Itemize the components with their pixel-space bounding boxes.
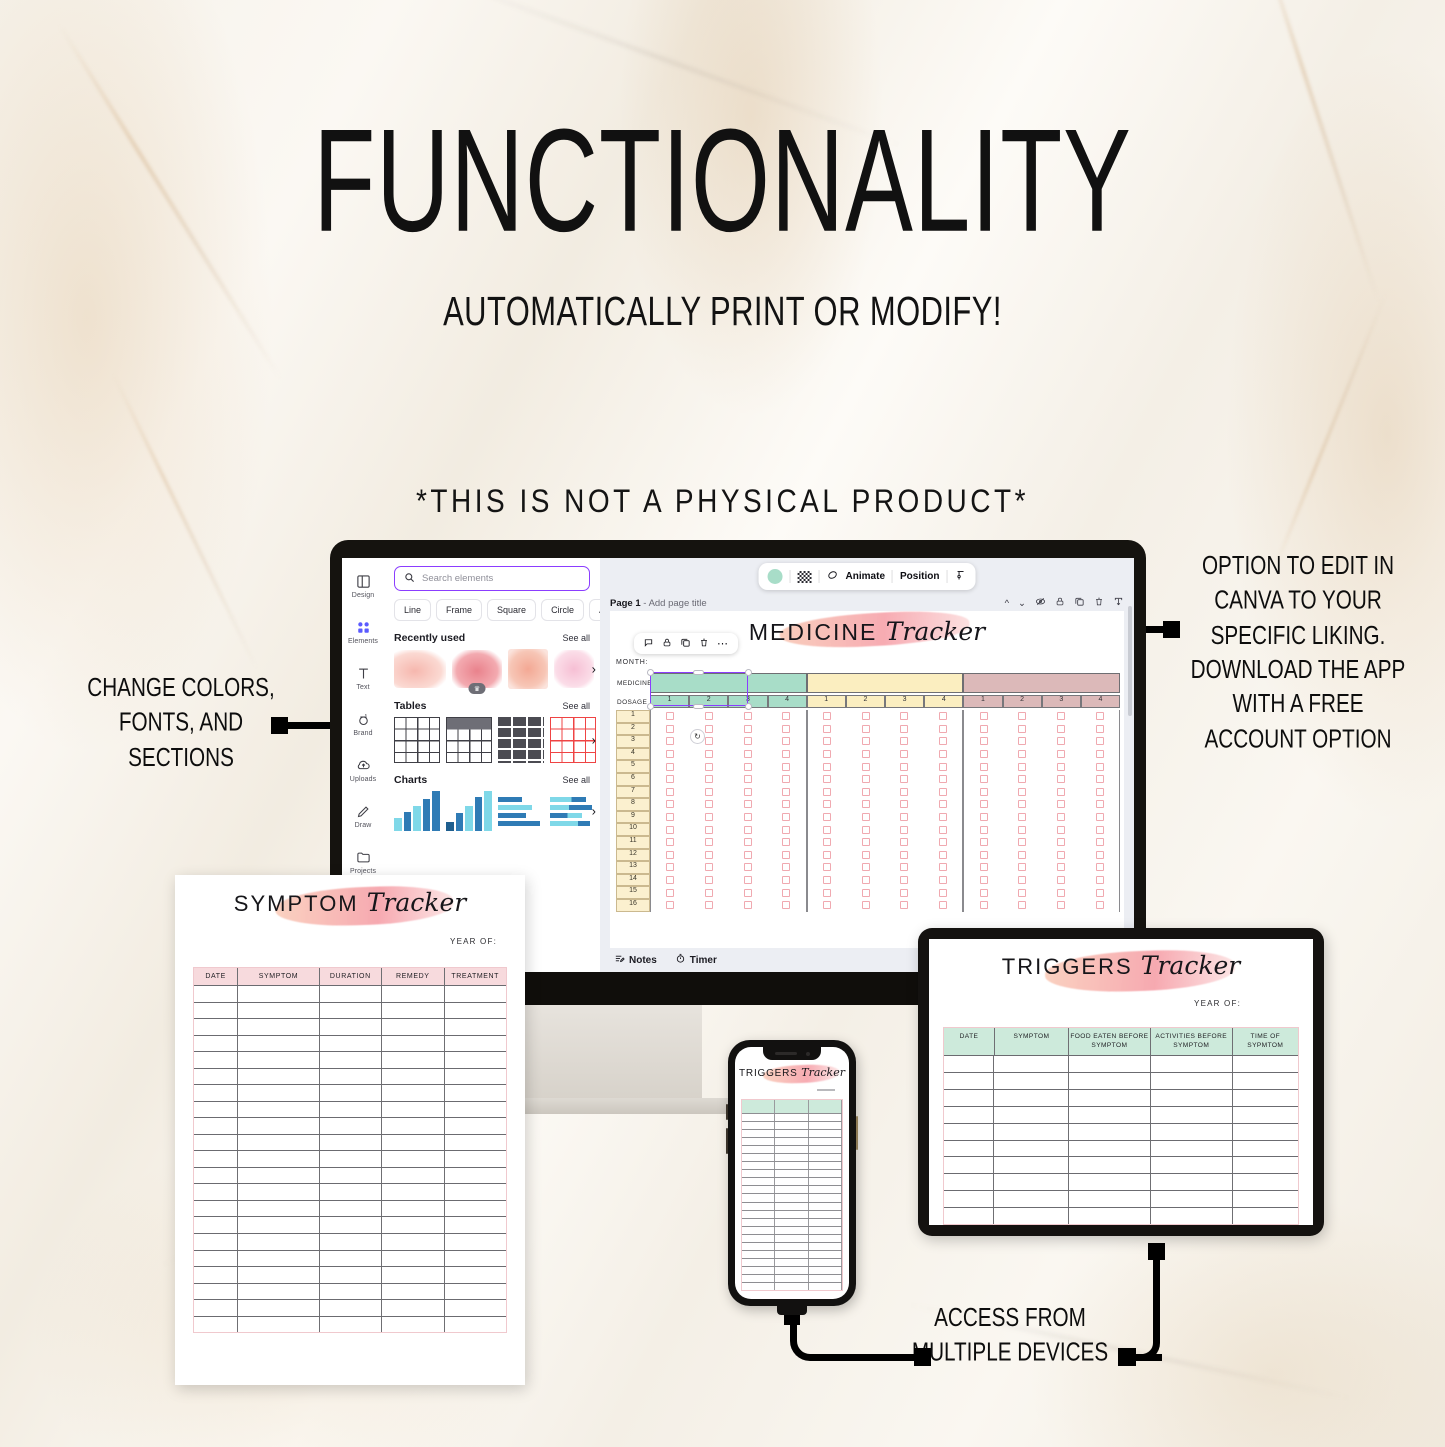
table-row[interactable]: 11 bbox=[616, 836, 1120, 849]
checkbox-group[interactable] bbox=[963, 710, 1120, 723]
checkbox-cell[interactable] bbox=[1080, 874, 1119, 887]
checkbox-group[interactable] bbox=[963, 836, 1120, 849]
checkbox-group[interactable] bbox=[807, 773, 964, 786]
checkbox-cell[interactable] bbox=[964, 710, 1003, 723]
checkbox-icon[interactable] bbox=[862, 901, 870, 909]
checkbox-cell[interactable] bbox=[964, 786, 1003, 799]
checkbox-cell[interactable] bbox=[1003, 899, 1042, 912]
checkbox-cell[interactable] bbox=[846, 786, 885, 799]
checkbox-icon[interactable] bbox=[939, 876, 947, 884]
checkbox-icon[interactable] bbox=[862, 750, 870, 758]
checkbox-cell[interactable] bbox=[651, 811, 690, 824]
checkbox-icon[interactable] bbox=[939, 725, 947, 733]
checkbox-cell[interactable] bbox=[1080, 886, 1119, 899]
checkbox-cell[interactable] bbox=[885, 874, 924, 887]
delete-icon[interactable] bbox=[1094, 596, 1104, 610]
checkbox-icon[interactable] bbox=[823, 763, 831, 771]
chip-line[interactable]: Line bbox=[394, 599, 431, 621]
hide-icon[interactable] bbox=[1035, 596, 1046, 610]
checkbox-cell[interactable] bbox=[964, 811, 1003, 824]
checkbox-cell[interactable] bbox=[924, 899, 963, 912]
chip-arrow[interactable]: Arro bbox=[589, 599, 600, 621]
checkbox-icon[interactable] bbox=[1096, 813, 1104, 821]
rotate-handle[interactable]: ↻ bbox=[690, 729, 705, 744]
checkbox-cell[interactable] bbox=[767, 710, 806, 723]
checkbox-icon[interactable] bbox=[744, 800, 752, 808]
checkbox-icon[interactable] bbox=[1096, 725, 1104, 733]
watercolor-swatch[interactable] bbox=[554, 650, 594, 688]
checkbox-icon[interactable] bbox=[705, 763, 713, 771]
checkbox-cell[interactable] bbox=[885, 723, 924, 736]
checkbox-cell[interactable] bbox=[846, 811, 885, 824]
checkbox-icon[interactable] bbox=[900, 876, 908, 884]
table-thumb-plain[interactable] bbox=[394, 717, 440, 763]
chip-frame[interactable]: Frame bbox=[436, 599, 482, 621]
checkbox-icon[interactable] bbox=[1018, 788, 1026, 796]
checkbox-icon[interactable] bbox=[980, 838, 988, 846]
checkbox-icon[interactable] bbox=[939, 851, 947, 859]
checkbox-group[interactable] bbox=[807, 811, 964, 824]
table-row[interactable]: 6 bbox=[616, 773, 1120, 786]
checkbox-cell[interactable] bbox=[964, 861, 1003, 874]
chevron-right-icon[interactable]: › bbox=[592, 662, 596, 677]
checkbox-icon[interactable] bbox=[744, 750, 752, 758]
checkbox-icon[interactable] bbox=[823, 712, 831, 720]
search-input[interactable]: Search elements bbox=[394, 566, 590, 591]
checkbox-group[interactable] bbox=[650, 798, 807, 811]
checkbox-icon[interactable] bbox=[1096, 775, 1104, 783]
checkbox-icon[interactable] bbox=[900, 813, 908, 821]
checkbox-icon[interactable] bbox=[782, 813, 790, 821]
checkbox-cell[interactable] bbox=[651, 836, 690, 849]
checkbox-cell[interactable] bbox=[690, 710, 729, 723]
checkbox-cell[interactable] bbox=[885, 798, 924, 811]
checkbox-cell[interactable] bbox=[690, 773, 729, 786]
comment-icon[interactable] bbox=[643, 637, 654, 651]
page-title-placeholder[interactable]: - Add page title bbox=[643, 598, 706, 609]
checkbox-icon[interactable] bbox=[666, 838, 674, 846]
checkbox-icon[interactable] bbox=[782, 851, 790, 859]
checkbox-cell[interactable] bbox=[690, 760, 729, 773]
color-swatch-button[interactable] bbox=[768, 569, 783, 584]
see-all-tables[interactable]: See all bbox=[562, 701, 590, 711]
checkbox-icon[interactable] bbox=[823, 838, 831, 846]
checkbox-cell[interactable] bbox=[846, 899, 885, 912]
checkbox-icon[interactable] bbox=[1057, 876, 1065, 884]
checkbox-cell[interactable] bbox=[964, 899, 1003, 912]
checkbox-group[interactable] bbox=[650, 811, 807, 824]
checkbox-cell[interactable] bbox=[651, 798, 690, 811]
medicine-tracker-document[interactable]: MEDICINE Tracker MONTH: MEDICINE bbox=[610, 611, 1124, 948]
checkbox-icon[interactable] bbox=[1018, 813, 1026, 821]
checkbox-icon[interactable] bbox=[939, 750, 947, 758]
checkbox-group[interactable] bbox=[650, 849, 807, 862]
checkbox-cell[interactable] bbox=[808, 760, 847, 773]
checkbox-group[interactable] bbox=[650, 760, 807, 773]
checkbox-icon[interactable] bbox=[782, 826, 790, 834]
checkbox-cell[interactable] bbox=[808, 899, 847, 912]
checkbox-icon[interactable] bbox=[744, 838, 752, 846]
checkbox-icon[interactable] bbox=[744, 863, 752, 871]
checkbox-icon[interactable] bbox=[900, 901, 908, 909]
table-thumb-dark[interactable] bbox=[498, 717, 544, 763]
checkbox-cell[interactable] bbox=[651, 899, 690, 912]
checkbox-cell[interactable] bbox=[846, 773, 885, 786]
checkbox-group[interactable] bbox=[963, 773, 1120, 786]
checkbox-cell[interactable] bbox=[846, 874, 885, 887]
selection-handle[interactable] bbox=[745, 669, 752, 676]
checkbox-icon[interactable] bbox=[980, 826, 988, 834]
checkbox-cell[interactable] bbox=[808, 773, 847, 786]
checkbox-icon[interactable] bbox=[1018, 725, 1026, 733]
chip-square[interactable]: Square bbox=[487, 599, 536, 621]
checkbox-cell[interactable] bbox=[1080, 899, 1119, 912]
checkbox-icon[interactable] bbox=[939, 800, 947, 808]
checkbox-cell[interactable] bbox=[651, 874, 690, 887]
chart-thumb-bar[interactable] bbox=[394, 791, 440, 831]
checkbox-cell[interactable] bbox=[846, 886, 885, 899]
checkbox-icon[interactable] bbox=[1018, 901, 1026, 909]
chevron-up-icon[interactable]: ^ bbox=[1005, 598, 1009, 609]
selection-handle[interactable] bbox=[647, 669, 654, 676]
checkbox-icon[interactable] bbox=[782, 763, 790, 771]
checkbox-cell[interactable] bbox=[885, 773, 924, 786]
checkbox-icon[interactable] bbox=[782, 889, 790, 897]
checkbox-icon[interactable] bbox=[980, 889, 988, 897]
checkbox-group[interactable] bbox=[650, 899, 807, 912]
watercolor-swatch[interactable] bbox=[508, 649, 548, 689]
checkbox-icon[interactable] bbox=[939, 838, 947, 846]
checkbox-cell[interactable] bbox=[1080, 823, 1119, 836]
checkbox-cell[interactable] bbox=[767, 836, 806, 849]
checkbox-icon[interactable] bbox=[782, 775, 790, 783]
checkbox-icon[interactable] bbox=[705, 725, 713, 733]
table-row[interactable]: 5 bbox=[616, 760, 1120, 773]
checkbox-group[interactable] bbox=[650, 786, 807, 799]
table-row[interactable]: 12 bbox=[616, 849, 1120, 862]
checkbox-icon[interactable] bbox=[666, 889, 674, 897]
checkbox-cell[interactable] bbox=[808, 886, 847, 899]
see-all-recently-used[interactable]: See all bbox=[562, 633, 590, 643]
checkbox-icon[interactable] bbox=[705, 800, 713, 808]
checkbox-icon[interactable] bbox=[939, 775, 947, 783]
checkbox-group[interactable] bbox=[963, 874, 1120, 887]
checkbox-cell[interactable] bbox=[1042, 710, 1081, 723]
table-row[interactable]: 1 bbox=[616, 710, 1120, 723]
checkbox-icon[interactable] bbox=[900, 826, 908, 834]
selection-handle[interactable] bbox=[693, 670, 704, 675]
expand-icon[interactable] bbox=[1113, 596, 1124, 610]
checkbox-icon[interactable] bbox=[823, 889, 831, 897]
checkbox-cell[interactable] bbox=[808, 748, 847, 761]
checkbox-cell[interactable] bbox=[885, 823, 924, 836]
checkbox-cell[interactable] bbox=[1003, 836, 1042, 849]
checkbox-cell[interactable] bbox=[728, 849, 767, 862]
checkbox-cell[interactable] bbox=[767, 899, 806, 912]
checkbox-cell[interactable] bbox=[924, 874, 963, 887]
checkbox-icon[interactable] bbox=[666, 863, 674, 871]
checkbox-cell[interactable] bbox=[1042, 823, 1081, 836]
checkbox-icon[interactable] bbox=[1018, 838, 1026, 846]
checkbox-cell[interactable] bbox=[767, 723, 806, 736]
checkbox-icon[interactable] bbox=[939, 889, 947, 897]
checkbox-cell[interactable] bbox=[964, 773, 1003, 786]
checkbox-icon[interactable] bbox=[782, 750, 790, 758]
checkbox-icon[interactable] bbox=[744, 826, 752, 834]
checkbox-icon[interactable] bbox=[862, 763, 870, 771]
tables-strip[interactable]: › bbox=[384, 717, 600, 763]
checkbox-cell[interactable] bbox=[767, 874, 806, 887]
checkbox-icon[interactable] bbox=[823, 826, 831, 834]
checkbox-cell[interactable] bbox=[728, 786, 767, 799]
checkbox-icon[interactable] bbox=[782, 800, 790, 808]
checkbox-icon[interactable] bbox=[1096, 901, 1104, 909]
lock-icon[interactable] bbox=[1055, 596, 1065, 610]
checkbox-icon[interactable] bbox=[862, 737, 870, 745]
sidebar-item-draw[interactable]: Draw bbox=[342, 794, 384, 838]
checkbox-icon[interactable] bbox=[939, 901, 947, 909]
checkbox-cell[interactable] bbox=[1003, 773, 1042, 786]
checkbox-icon[interactable] bbox=[1096, 763, 1104, 771]
checkbox-icon[interactable] bbox=[1018, 737, 1026, 745]
checkbox-cell[interactable] bbox=[767, 786, 806, 799]
checkbox-icon[interactable] bbox=[1096, 750, 1104, 758]
checkbox-cell[interactable] bbox=[964, 836, 1003, 849]
checkbox-icon[interactable] bbox=[980, 775, 988, 783]
checkbox-cell[interactable] bbox=[808, 823, 847, 836]
checkbox-icon[interactable] bbox=[1018, 750, 1026, 758]
checkbox-cell[interactable] bbox=[964, 823, 1003, 836]
checkbox-cell[interactable] bbox=[1080, 773, 1119, 786]
checkbox-icon[interactable] bbox=[666, 763, 674, 771]
checkbox-group[interactable] bbox=[963, 849, 1120, 862]
chevron-right-icon[interactable]: › bbox=[592, 804, 596, 819]
checkbox-icon[interactable] bbox=[744, 813, 752, 821]
checkbox-icon[interactable] bbox=[1057, 838, 1065, 846]
checkbox-cell[interactable] bbox=[1003, 723, 1042, 736]
checkbox-cell[interactable] bbox=[767, 735, 806, 748]
checkbox-cell[interactable] bbox=[1003, 811, 1042, 824]
checkbox-icon[interactable] bbox=[939, 763, 947, 771]
checkbox-icon[interactable] bbox=[1057, 800, 1065, 808]
checkbox-group[interactable] bbox=[807, 836, 964, 849]
checkbox-icon[interactable] bbox=[782, 788, 790, 796]
checkbox-cell[interactable] bbox=[767, 748, 806, 761]
table-thumb-red[interactable] bbox=[550, 717, 596, 763]
recently-used-strip[interactable]: ♛ › bbox=[384, 649, 600, 689]
checkbox-group[interactable] bbox=[650, 723, 807, 736]
checkbox-cell[interactable] bbox=[651, 748, 690, 761]
checkbox-cell[interactable] bbox=[767, 798, 806, 811]
checkbox-cell[interactable] bbox=[846, 861, 885, 874]
checkbox-cell[interactable] bbox=[885, 710, 924, 723]
checkbox-cell[interactable] bbox=[728, 886, 767, 899]
checkbox-icon[interactable] bbox=[823, 737, 831, 745]
checkbox-cell[interactable] bbox=[846, 723, 885, 736]
checkbox-cell[interactable] bbox=[1042, 723, 1081, 736]
checkbox-cell[interactable] bbox=[885, 748, 924, 761]
trash-icon[interactable] bbox=[699, 637, 709, 651]
checkbox-icon[interactable] bbox=[980, 788, 988, 796]
checkbox-cell[interactable] bbox=[1042, 786, 1081, 799]
checkbox-icon[interactable] bbox=[705, 838, 713, 846]
checkbox-icon[interactable] bbox=[900, 788, 908, 796]
checkbox-group[interactable] bbox=[650, 773, 807, 786]
checkbox-cell[interactable] bbox=[651, 735, 690, 748]
table-thumb-header[interactable] bbox=[446, 717, 492, 763]
checkbox-icon[interactable] bbox=[900, 725, 908, 733]
checkbox-icon[interactable] bbox=[980, 725, 988, 733]
checkbox-icon[interactable] bbox=[1057, 826, 1065, 834]
checkbox-icon[interactable] bbox=[1018, 876, 1026, 884]
table-row[interactable]: 8 bbox=[616, 798, 1120, 811]
checkbox-cell[interactable] bbox=[924, 773, 963, 786]
chevron-right-icon[interactable]: › bbox=[592, 733, 596, 748]
medicine-group-2[interactable] bbox=[807, 673, 964, 693]
checkbox-cell[interactable] bbox=[767, 861, 806, 874]
chart-thumb-stacked[interactable] bbox=[446, 791, 492, 831]
checkbox-cell[interactable] bbox=[1003, 849, 1042, 862]
checkbox-icon[interactable] bbox=[939, 712, 947, 720]
checkbox-cell[interactable] bbox=[1003, 861, 1042, 874]
checkbox-icon[interactable] bbox=[666, 813, 674, 821]
checkbox-icon[interactable] bbox=[1018, 800, 1026, 808]
checkbox-group[interactable] bbox=[807, 735, 964, 748]
checkbox-cell[interactable] bbox=[690, 849, 729, 862]
checkbox-icon[interactable] bbox=[862, 863, 870, 871]
checkbox-cell[interactable] bbox=[808, 861, 847, 874]
checkbox-cell[interactable] bbox=[1042, 874, 1081, 887]
checkbox-icon[interactable] bbox=[1057, 851, 1065, 859]
checkbox-icon[interactable] bbox=[900, 750, 908, 758]
checkbox-group[interactable] bbox=[650, 861, 807, 874]
checkbox-icon[interactable] bbox=[823, 725, 831, 733]
see-all-charts[interactable]: See all bbox=[562, 775, 590, 785]
checkbox-cell[interactable] bbox=[1080, 798, 1119, 811]
checkbox-icon[interactable] bbox=[744, 763, 752, 771]
checkbox-cell[interactable] bbox=[924, 710, 963, 723]
checkbox-icon[interactable] bbox=[705, 788, 713, 796]
checkbox-cell[interactable] bbox=[808, 735, 847, 748]
checkbox-cell[interactable] bbox=[964, 723, 1003, 736]
checkbox-icon[interactable] bbox=[900, 863, 908, 871]
checkbox-cell[interactable] bbox=[1003, 735, 1042, 748]
checkbox-icon[interactable] bbox=[823, 851, 831, 859]
checkbox-icon[interactable] bbox=[980, 750, 988, 758]
checkbox-cell[interactable] bbox=[728, 899, 767, 912]
timer-button[interactable]: Timer bbox=[675, 953, 717, 967]
charts-strip[interactable]: › bbox=[384, 791, 600, 831]
checkbox-cell[interactable] bbox=[924, 811, 963, 824]
chart-thumb-hbar-stacked[interactable] bbox=[550, 791, 596, 831]
checkbox-cell[interactable] bbox=[728, 874, 767, 887]
checkbox-icon[interactable] bbox=[939, 826, 947, 834]
checkbox-cell[interactable] bbox=[728, 760, 767, 773]
checkbox-cell[interactable] bbox=[808, 710, 847, 723]
checkbox-group[interactable] bbox=[807, 786, 964, 799]
checkbox-cell[interactable] bbox=[690, 836, 729, 849]
checkbox-icon[interactable] bbox=[1057, 737, 1065, 745]
checkbox-cell[interactable] bbox=[924, 786, 963, 799]
checkbox-cell[interactable] bbox=[846, 710, 885, 723]
watercolor-swatch[interactable]: ♛ bbox=[452, 650, 502, 688]
checkbox-cell[interactable] bbox=[808, 786, 847, 799]
checkbox-icon[interactable] bbox=[1057, 725, 1065, 733]
checkbox-icon[interactable] bbox=[1018, 763, 1026, 771]
medicine-group-1[interactable] bbox=[650, 673, 807, 693]
checkbox-cell[interactable] bbox=[1080, 786, 1119, 799]
checkbox-group[interactable] bbox=[807, 760, 964, 773]
checkbox-cell[interactable] bbox=[690, 823, 729, 836]
checkbox-group[interactable] bbox=[650, 836, 807, 849]
checkbox-cell[interactable] bbox=[728, 836, 767, 849]
checkbox-icon[interactable] bbox=[1096, 800, 1104, 808]
checkbox-icon[interactable] bbox=[1018, 712, 1026, 720]
checkbox-icon[interactable] bbox=[666, 750, 674, 758]
checkbox-icon[interactable] bbox=[744, 712, 752, 720]
checkbox-icon[interactable] bbox=[705, 826, 713, 834]
checkbox-icon[interactable] bbox=[705, 889, 713, 897]
chip-circle[interactable]: Circle bbox=[541, 599, 584, 621]
checkbox-cell[interactable] bbox=[728, 735, 767, 748]
checkbox-cell[interactable] bbox=[924, 735, 963, 748]
checkbox-cell[interactable] bbox=[964, 735, 1003, 748]
checkbox-cell[interactable] bbox=[1003, 760, 1042, 773]
duplicate-icon[interactable] bbox=[680, 637, 691, 651]
checkbox-group[interactable] bbox=[807, 748, 964, 761]
checkbox-cell[interactable] bbox=[690, 874, 729, 887]
checkbox-cell[interactable] bbox=[767, 849, 806, 862]
checkbox-icon[interactable] bbox=[666, 737, 674, 745]
checkbox-icon[interactable] bbox=[782, 876, 790, 884]
checkbox-icon[interactable] bbox=[862, 712, 870, 720]
checkbox-icon[interactable] bbox=[744, 889, 752, 897]
checkbox-cell[interactable] bbox=[964, 874, 1003, 887]
checkbox-icon[interactable] bbox=[1018, 851, 1026, 859]
checkbox-icon[interactable] bbox=[1057, 813, 1065, 821]
checkbox-icon[interactable] bbox=[705, 876, 713, 884]
checkbox-cell[interactable] bbox=[885, 735, 924, 748]
checkbox-icon[interactable] bbox=[823, 876, 831, 884]
checkbox-icon[interactable] bbox=[1096, 826, 1104, 834]
checkbox-cell[interactable] bbox=[690, 748, 729, 761]
checkbox-cell[interactable] bbox=[1042, 886, 1081, 899]
checkbox-cell[interactable] bbox=[1042, 836, 1081, 849]
checkbox-icon[interactable] bbox=[1096, 712, 1104, 720]
checkbox-cell[interactable] bbox=[767, 886, 806, 899]
checkbox-cell[interactable] bbox=[690, 798, 729, 811]
checkbox-cell[interactable] bbox=[1042, 798, 1081, 811]
checkbox-cell[interactable] bbox=[885, 786, 924, 799]
checkbox-icon[interactable] bbox=[939, 863, 947, 871]
checkbox-icon[interactable] bbox=[862, 876, 870, 884]
checkbox-icon[interactable] bbox=[1018, 775, 1026, 783]
animate-button[interactable]: Animate bbox=[846, 571, 885, 582]
tune-icon[interactable] bbox=[954, 569, 966, 585]
checkbox-icon[interactable] bbox=[1018, 863, 1026, 871]
checkbox-cell[interactable] bbox=[1042, 735, 1081, 748]
checkbox-group[interactable] bbox=[650, 886, 807, 899]
checkbox-cell[interactable] bbox=[690, 861, 729, 874]
checkbox-icon[interactable] bbox=[980, 737, 988, 745]
checkbox-icon[interactable] bbox=[666, 775, 674, 783]
checkbox-cell[interactable] bbox=[651, 886, 690, 899]
checkbox-icon[interactable] bbox=[900, 712, 908, 720]
checkbox-cell[interactable] bbox=[728, 723, 767, 736]
checkbox-cell[interactable] bbox=[1042, 899, 1081, 912]
checkbox-cell[interactable] bbox=[767, 760, 806, 773]
chart-thumb-hbar[interactable] bbox=[498, 791, 544, 831]
